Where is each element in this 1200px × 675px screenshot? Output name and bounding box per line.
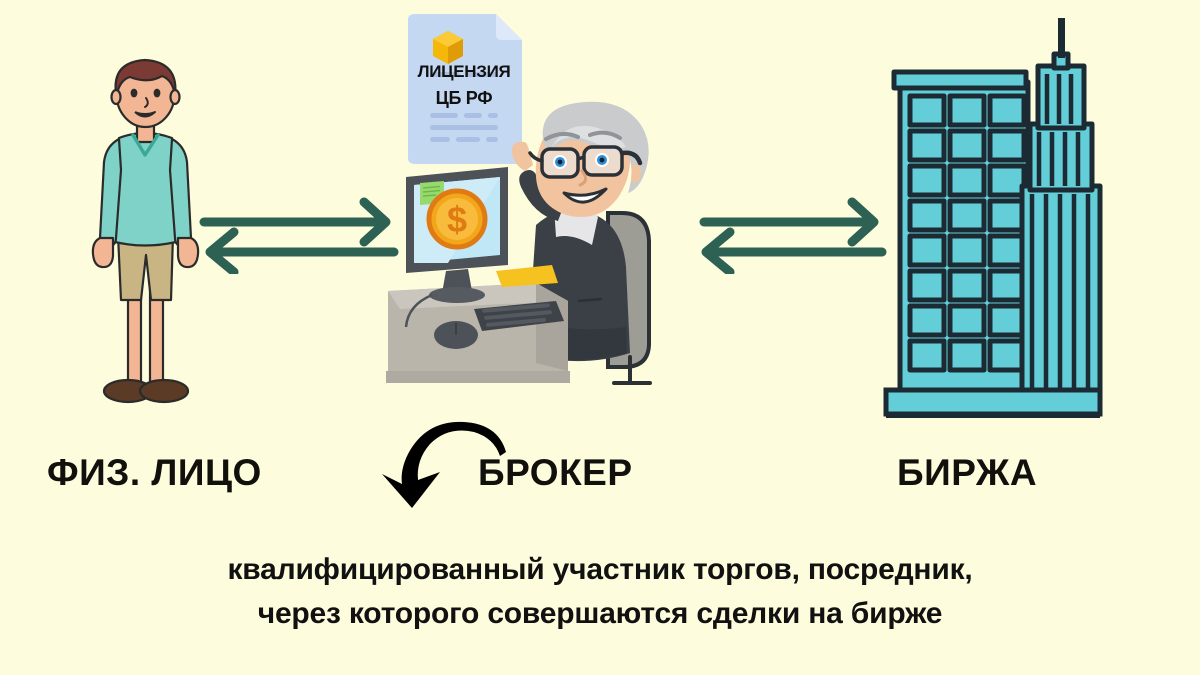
broker-illustration: $ xyxy=(386,95,686,395)
arrow-broker-exchange xyxy=(692,196,890,274)
caption-block: квалифицированный участник торгов, посре… xyxy=(0,548,1200,635)
caption-line-2: через которого совершаются сделки на бир… xyxy=(0,592,1200,636)
broker-head xyxy=(530,102,649,217)
label-broker: БРОКЕР xyxy=(478,452,633,494)
label-individual: ФИЗ. ЛИЦО xyxy=(47,452,262,494)
infographic-canvas: ЛИЦЕНЗИЯ ЦБ РФ xyxy=(0,0,1200,675)
license-line-1: ЛИЦЕНЗИЯ xyxy=(418,62,511,81)
arrow-individual-broker xyxy=(196,196,402,274)
svg-text:$: $ xyxy=(447,199,467,240)
skyscraper-illustration xyxy=(878,18,1108,420)
label-exchange: БИРЖА xyxy=(897,452,1037,494)
caption-line-1: квалифицированный участник торгов, посре… xyxy=(0,548,1200,592)
person-illustration xyxy=(78,50,213,410)
